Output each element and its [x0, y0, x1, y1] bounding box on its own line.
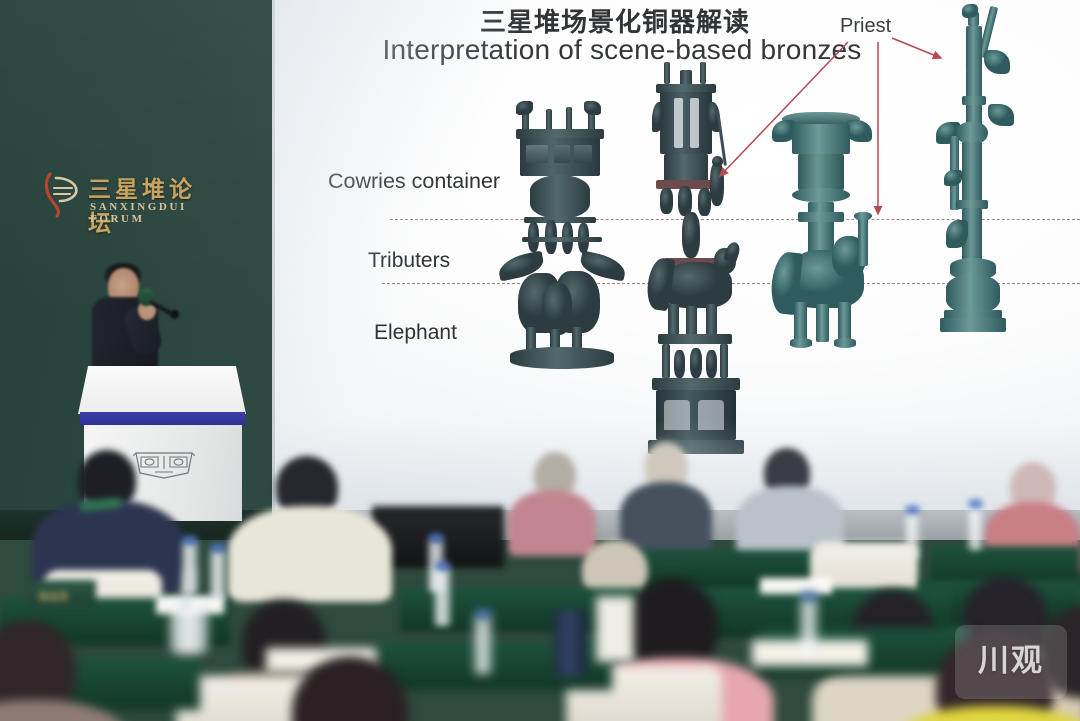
- water-bottle: [968, 506, 983, 550]
- water-bottle: [800, 598, 818, 654]
- water-bottle-cap: [475, 610, 491, 618]
- water-bottle: [210, 550, 226, 600]
- water-bottle-cap: [429, 534, 443, 542]
- name-placard-text: 扬吉凤: [39, 590, 69, 603]
- notepad: [760, 578, 832, 594]
- framed-card: [596, 596, 634, 662]
- thermos-flask: [554, 610, 586, 676]
- sanxingdui-forum-logo: 三星堆论坛 SANXINGDUI FORUM: [36, 168, 208, 226]
- conference-photo: 三星堆论坛 SANXINGDUI FORUM 三星堆场景化铜器解读 Interp…: [0, 0, 1080, 721]
- forum-logo-english: SANXINGDUI FORUM: [90, 201, 208, 225]
- audience-shoulders: [228, 506, 392, 602]
- forum-logo-mark-icon: [40, 168, 84, 220]
- water-bottle-cap: [435, 562, 450, 570]
- drink-cup: [170, 602, 208, 654]
- watermark-text: 川观: [958, 635, 1064, 680]
- water-bottle-cap: [906, 506, 919, 514]
- water-bottle: [474, 616, 492, 674]
- podium-top: [78, 366, 246, 414]
- microphone-tip: [170, 310, 179, 319]
- arrow-to-priest-figure-1: [720, 42, 848, 176]
- audience-area: 扬吉凤: [0, 420, 1080, 721]
- water-bottle-cap: [183, 536, 197, 544]
- water-bottle-cap: [211, 544, 225, 552]
- audience-shoulders: [508, 490, 596, 556]
- audience-shoulders: [620, 482, 712, 552]
- water-bottle-cap: [969, 500, 982, 508]
- water-bottle: [434, 568, 451, 626]
- arrow-to-priest-figure-3: [892, 38, 941, 58]
- water-bottle-cap: [801, 592, 817, 600]
- name-placard: 扬吉凤: [30, 580, 96, 608]
